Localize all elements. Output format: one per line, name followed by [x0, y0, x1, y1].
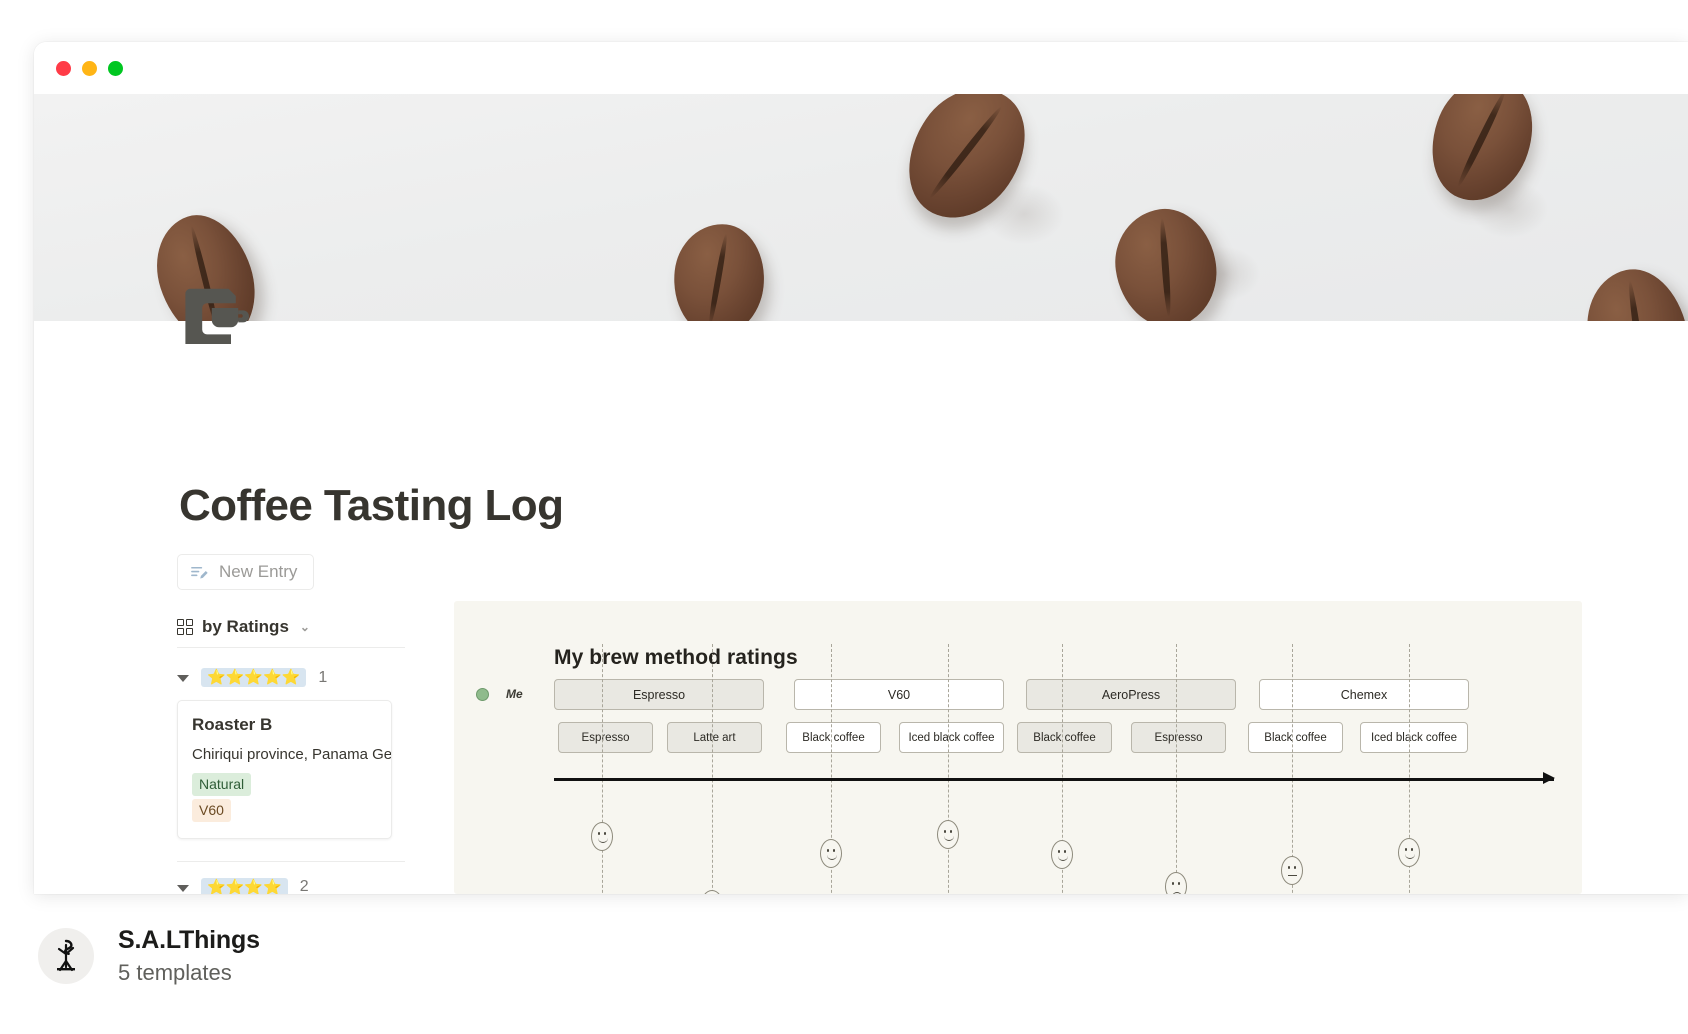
coffee-machine-icon[interactable]	[180, 284, 258, 356]
coffee-bean	[668, 220, 769, 321]
rating-stars: ⭐⭐⭐⭐	[201, 878, 288, 894]
author-name: S.A.LThings	[118, 926, 260, 955]
mood-point-neutral[interactable]	[1281, 856, 1303, 885]
mood-point-happy[interactable]	[1398, 838, 1420, 867]
legend-label-me: Me	[506, 687, 523, 701]
rating-group-count: 1	[318, 669, 327, 687]
avatar[interactable]	[38, 928, 94, 984]
mood-point-sad[interactable]	[1165, 872, 1187, 894]
edit-icon	[190, 563, 209, 582]
tag-method[interactable]: V60	[192, 799, 231, 822]
mood-point-happy[interactable]	[591, 822, 613, 851]
collapse-triangle-icon[interactable]	[177, 885, 189, 892]
coffee-bean	[1576, 260, 1688, 321]
document-body: Coffee Tasting Log New Entry by Ratings …	[34, 321, 1688, 894]
author-info: S.A.LThings 5 templates	[118, 926, 260, 986]
mood-point-sad[interactable]	[701, 890, 723, 894]
entry-card[interactable]: Roaster B Chiriqui province, Panama Geis…	[177, 700, 392, 839]
chart-legend: Me	[476, 687, 523, 701]
chart-points	[554, 774, 1554, 894]
collapse-triangle-icon[interactable]	[177, 675, 189, 682]
entry-card-tags: Natural	[192, 773, 377, 796]
rating-group: ⭐⭐⭐⭐⭐ 1 Roaster B Chiriqui province, Pan…	[177, 668, 405, 839]
mood-point-happy[interactable]	[937, 820, 959, 849]
window-titlebar	[34, 42, 1688, 94]
rating-group-header[interactable]: ⭐⭐⭐⭐⭐ 1	[177, 668, 405, 687]
chart-axis	[554, 774, 1554, 784]
view-selector-label: by Ratings	[202, 617, 289, 637]
rating-group-count: 2	[300, 878, 309, 894]
minimize-button[interactable]	[82, 61, 97, 76]
entry-card-subtitle: Chiriqui province, Panama Geisha	[192, 746, 377, 763]
coffee-bean	[1108, 203, 1223, 321]
screenshot-root: Coffee Tasting Log New Entry by Ratings …	[0, 0, 1688, 1034]
new-entry-label: New Entry	[219, 562, 297, 582]
tag-process[interactable]: Natural	[192, 773, 251, 796]
entries-sidebar: by Ratings ⌄ ⭐⭐⭐⭐⭐ 1 Roaster B Chiriqui …	[177, 617, 405, 894]
entry-card-title: Roaster B	[192, 715, 377, 735]
cover-image	[34, 94, 1688, 321]
chevron-down-icon[interactable]: ⌄	[300, 620, 310, 634]
close-button[interactable]	[56, 61, 71, 76]
mood-point-happy[interactable]	[820, 839, 842, 868]
coffee-bean	[884, 94, 1048, 240]
entry-card-tags: V60	[192, 799, 377, 822]
mood-point-happy[interactable]	[1051, 840, 1073, 869]
rating-group-header[interactable]: ⭐⭐⭐⭐ 2	[177, 878, 405, 894]
new-entry-button[interactable]: New Entry	[177, 554, 314, 590]
legend-dot-me	[476, 688, 489, 701]
page-title: Coffee Tasting Log	[179, 481, 563, 531]
rating-stars: ⭐⭐⭐⭐⭐	[201, 668, 306, 687]
view-selector[interactable]: by Ratings ⌄	[177, 617, 405, 648]
author-footer: S.A.LThings 5 templates	[38, 926, 260, 986]
grid-view-icon	[177, 619, 193, 635]
chart-track: Espresso V60 AeroPress Chemex Espresso L…	[554, 679, 1554, 784]
brew-ratings-chart: My brew method ratings Me Espresso V60 A…	[454, 601, 1582, 894]
salthings-logo-icon	[49, 937, 83, 975]
browser-window: Coffee Tasting Log New Entry by Ratings …	[34, 42, 1688, 894]
zoom-button[interactable]	[108, 61, 123, 76]
coffee-bean	[1414, 94, 1550, 215]
template-count: 5 templates	[118, 960, 260, 986]
rating-group: ⭐⭐⭐⭐ 2	[177, 861, 405, 894]
